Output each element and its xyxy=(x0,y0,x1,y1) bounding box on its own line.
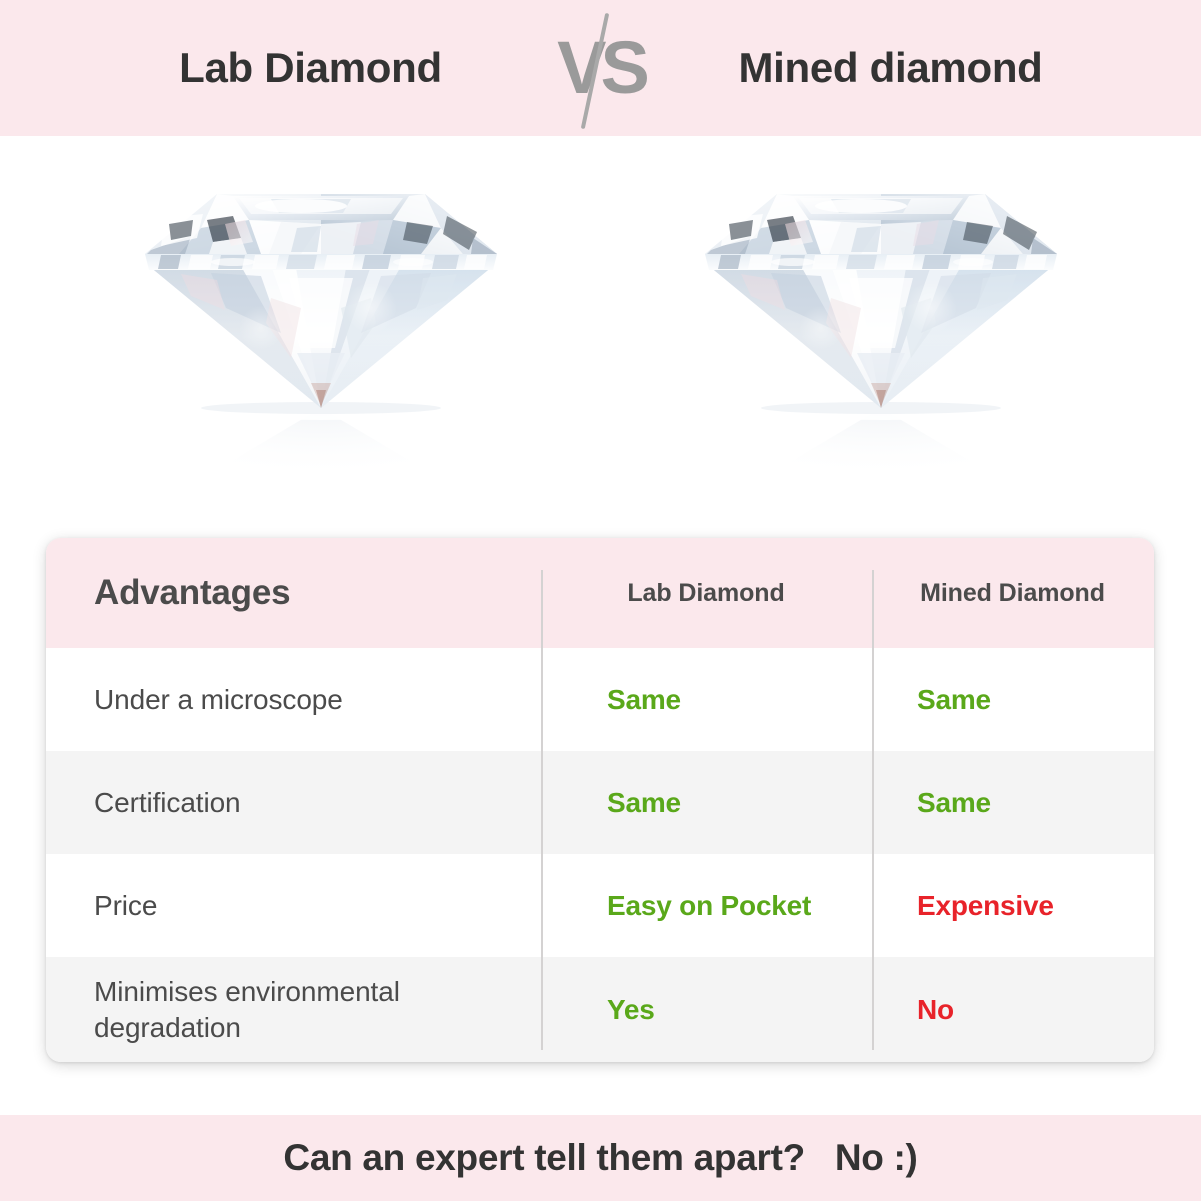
footer-banner: Can an expert tell them apart? No :) xyxy=(0,1115,1201,1201)
row-lab-cell: Same xyxy=(541,751,871,854)
table-row: Certification Same Same xyxy=(46,751,1154,854)
row-mined-value: No xyxy=(917,994,954,1026)
row-mined-cell: No xyxy=(871,957,1154,1062)
header-advantages-label: Advantages xyxy=(94,573,290,613)
row-lab-cell: Same xyxy=(541,648,871,751)
row-feature-cell: Price xyxy=(46,854,541,957)
row-feature-label: Price xyxy=(94,888,157,924)
table-row: Minimises environmental degradation Yes … xyxy=(46,957,1154,1062)
row-mined-cell: Same xyxy=(871,751,1154,854)
vs-badge: VS xyxy=(546,8,656,128)
row-lab-value: Same xyxy=(607,684,681,716)
banner-inner: Lab Diamond VS Mined diamond xyxy=(0,8,1201,128)
banner-title-mined: Mined diamond xyxy=(656,44,1126,92)
column-divider-1 xyxy=(541,570,543,1050)
header-cell-mined: Mined Diamond xyxy=(871,538,1154,648)
row-mined-value: Same xyxy=(917,787,991,819)
row-feature-label: Minimises environmental degradation xyxy=(94,974,541,1046)
row-mined-cell: Expensive xyxy=(871,854,1154,957)
header-lab-label: Lab Diamond xyxy=(627,579,784,608)
top-banner: Lab Diamond VS Mined diamond xyxy=(0,0,1201,136)
column-divider-2 xyxy=(872,570,874,1050)
row-feature-cell: Certification xyxy=(46,751,541,854)
table-header-row: Advantages Lab Diamond Mined Diamond xyxy=(46,538,1154,648)
row-lab-cell: Easy on Pocket xyxy=(541,854,871,957)
row-feature-cell: Under a microscope xyxy=(46,648,541,751)
row-mined-cell: Same xyxy=(871,648,1154,751)
table-row: Price Easy on Pocket Expensive xyxy=(46,854,1154,957)
mined-diamond-image xyxy=(681,158,1081,488)
header-cell-lab: Lab Diamond xyxy=(541,538,871,648)
row-feature-label: Under a microscope xyxy=(94,682,343,718)
row-lab-value: Yes xyxy=(607,994,655,1026)
table-row: Under a microscope Same Same xyxy=(46,648,1154,751)
header-cell-advantages: Advantages xyxy=(46,538,541,648)
row-feature-label: Certification xyxy=(94,785,241,821)
footer-question: Can an expert tell them apart? No :) xyxy=(283,1137,917,1179)
row-lab-value: Easy on Pocket xyxy=(607,890,811,922)
lab-diamond-image xyxy=(121,158,521,488)
header-mined-label: Mined Diamond xyxy=(920,579,1105,608)
row-feature-cell: Minimises environmental degradation xyxy=(46,957,541,1062)
row-mined-value: Expensive xyxy=(917,890,1054,922)
infographic-page: Lab Diamond VS Mined diamond xyxy=(0,0,1201,1201)
banner-title-lab: Lab Diamond xyxy=(76,44,546,92)
diamond-images-row xyxy=(0,136,1201,528)
comparison-table: Advantages Lab Diamond Mined Diamond Und… xyxy=(46,538,1154,1062)
row-lab-value: Same xyxy=(607,787,681,819)
comparison-card: Advantages Lab Diamond Mined Diamond Und… xyxy=(46,538,1154,1062)
row-lab-cell: Yes xyxy=(541,957,871,1062)
row-mined-value: Same xyxy=(917,684,991,716)
